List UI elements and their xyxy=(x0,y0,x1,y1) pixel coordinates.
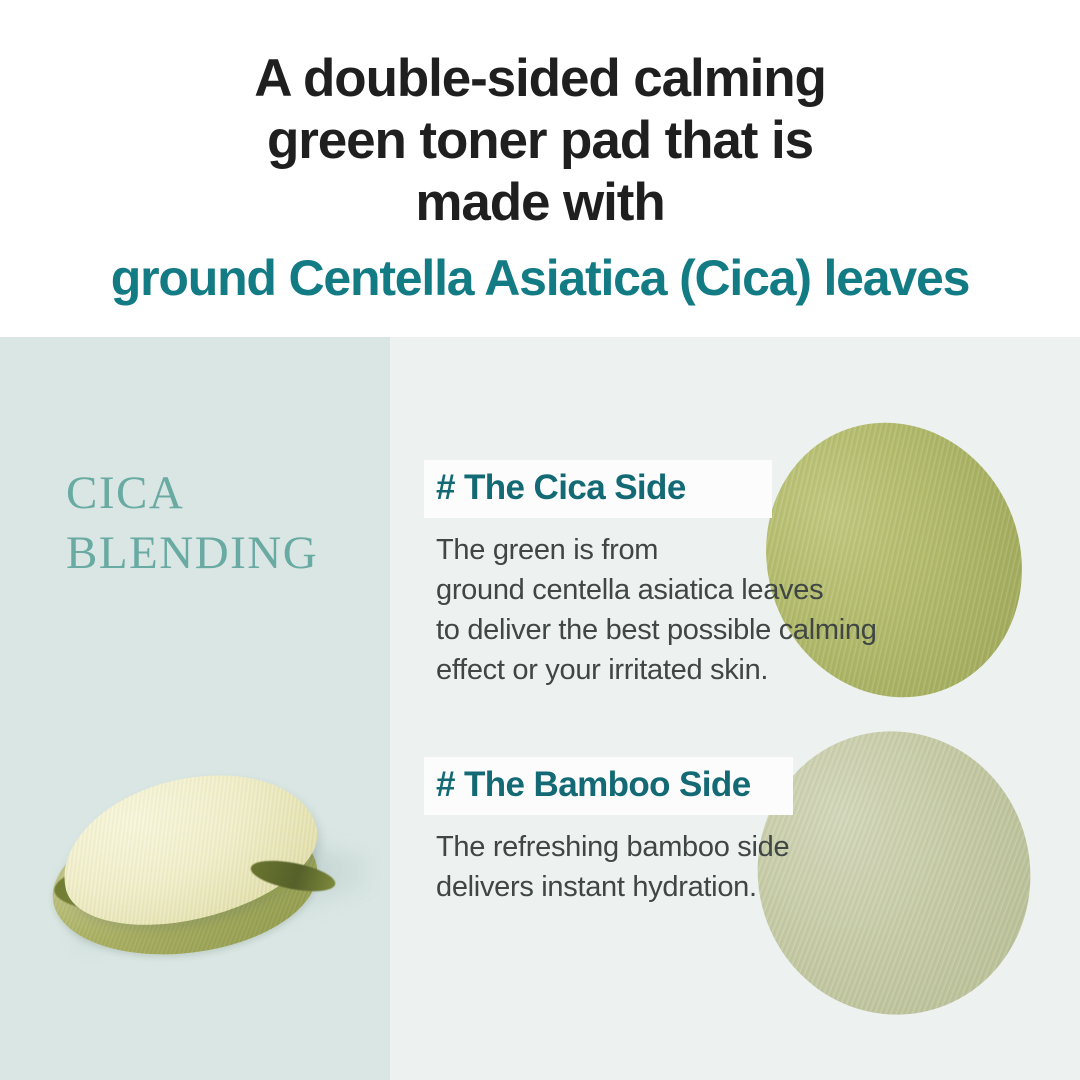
feature-cica-body-line-1: The green is from xyxy=(436,530,877,570)
headline-line-3: made with xyxy=(60,172,1020,234)
feature-cica-body-line-2: ground centella asiatica leaves xyxy=(436,570,877,610)
feature-bamboo-title: # The Bamboo Side xyxy=(436,766,773,804)
headline-line-2: green toner pad that is xyxy=(60,110,1020,172)
right-panel: # The Cica Side The green is from ground… xyxy=(390,337,1080,1080)
brand-wordmark: CICA BLENDING xyxy=(66,463,318,583)
product-infographic: A double-sided calming green toner pad t… xyxy=(0,0,1080,1080)
feature-bamboo-body-line-2: delivers instant hydration. xyxy=(436,867,793,907)
folded-toner-pad-photo xyxy=(14,777,390,992)
headline-accent-line: ground Centella Asiatica (Cica) leaves xyxy=(40,249,1040,307)
feature-cica-title: # The Cica Side xyxy=(436,469,752,507)
headline: A double-sided calming green toner pad t… xyxy=(60,48,1020,234)
feature-bamboo-body-line-1: The refreshing bamboo side xyxy=(436,827,793,867)
feature-bamboo-title-box: # The Bamboo Side xyxy=(424,757,793,815)
header-section: A double-sided calming green toner pad t… xyxy=(0,0,1080,337)
feature-cica-body-line-3: to deliver the best possible calming xyxy=(436,610,877,650)
headline-line-1: A double-sided calming xyxy=(60,48,1020,110)
feature-cica-body: The green is from ground centella asiati… xyxy=(424,530,877,690)
feature-bamboo-side: # The Bamboo Side The refreshing bamboo … xyxy=(424,757,793,907)
feature-cica-body-line-4: effect or your irritated skin. xyxy=(436,650,877,690)
brand-wordmark-line-1: CICA xyxy=(66,463,318,523)
feature-cica-side: # The Cica Side The green is from ground… xyxy=(424,460,877,690)
brand-wordmark-line-2: BLENDING xyxy=(66,523,318,583)
left-panel: CICA BLENDING xyxy=(0,337,390,1080)
feature-cica-title-box: # The Cica Side xyxy=(424,460,772,518)
feature-bamboo-body: The refreshing bamboo side delivers inst… xyxy=(424,827,793,907)
